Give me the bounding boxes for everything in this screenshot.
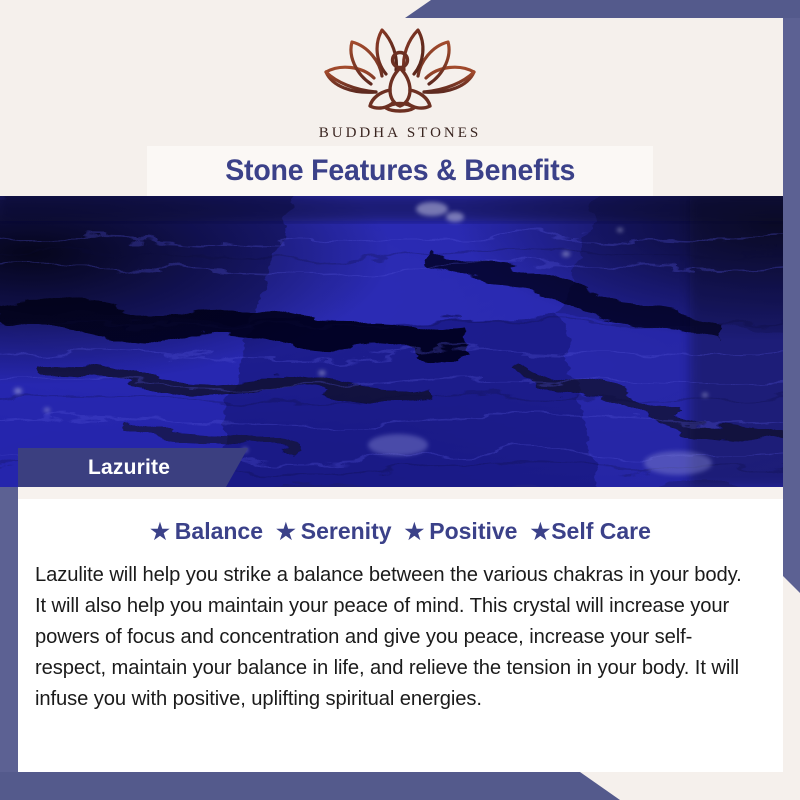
benefit-label: Self Care <box>551 518 651 545</box>
benefit-label: Serenity <box>301 518 392 545</box>
benefit-serenity: ★ Serenity <box>276 518 392 545</box>
benefit-label: Positive <box>429 518 517 545</box>
brand-logo: BUDDHA STONES <box>0 22 800 142</box>
decoration-band-left <box>0 487 18 772</box>
lotus-meditation-icon <box>316 22 484 118</box>
star-icon: ★ <box>276 521 296 543</box>
decoration-band-top-right <box>413 0 800 18</box>
panel-top-strip <box>18 487 783 499</box>
page-title: Stone Features & Benefits <box>225 154 575 188</box>
decoration-band-bottom <box>0 772 620 800</box>
star-icon: ★ <box>530 521 550 543</box>
decoration-band-right <box>783 18 800 593</box>
benefits-row: ★ Balance ★ Serenity ★ Positive ★ Self C… <box>18 518 783 545</box>
content-panel: ★ Balance ★ Serenity ★ Positive ★ Self C… <box>18 487 783 772</box>
stone-name: Lazurite <box>18 456 170 480</box>
benefit-label: Balance <box>175 518 263 545</box>
benefit-self-care: ★ Self Care <box>530 518 650 545</box>
stone-photo <box>0 195 800 487</box>
benefit-positive: ★ Positive <box>405 518 518 545</box>
stone-name-tag: Lazurite <box>18 448 248 487</box>
star-icon: ★ <box>150 521 170 543</box>
star-icon: ★ <box>405 521 425 543</box>
stone-description: Lazulite will help you strike a balance … <box>35 559 746 714</box>
benefit-balance: ★ Balance <box>150 518 263 545</box>
stone-info-poster: BUDDHA STONES Stone Features & Benefits … <box>0 0 800 800</box>
title-ribbon: Stone Features & Benefits <box>147 146 653 196</box>
brand-name: BUDDHA STONES <box>0 125 800 142</box>
